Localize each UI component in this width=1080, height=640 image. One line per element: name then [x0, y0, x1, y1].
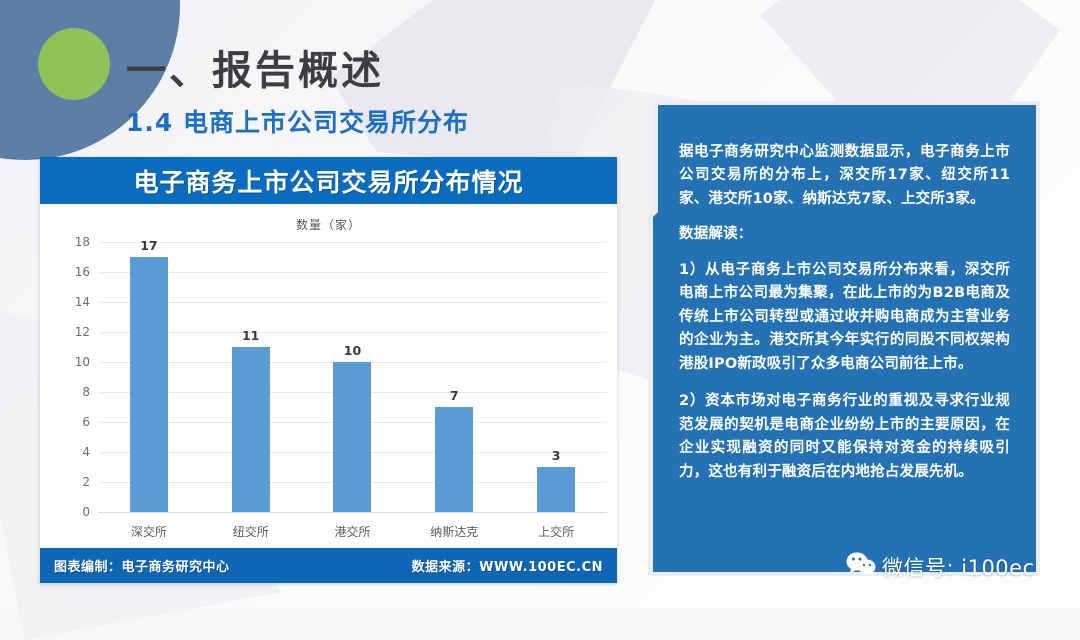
analysis-point-2: 2）资本市场对电子商务行业的重视及寻求行业规范发展的契机是电商企业纷纷上市的主要…: [679, 390, 1010, 484]
chart-plot: 181614121086420 17111073: [98, 242, 607, 512]
x-axis-label: 深交所: [98, 523, 200, 540]
bar-column: 11: [200, 242, 302, 512]
gridline: [98, 512, 607, 513]
chart-credit: 图表编制：电子商务研究中心: [54, 556, 230, 575]
chart-bars: 17111073: [98, 242, 607, 512]
bar-column: 10: [302, 242, 404, 512]
chart-source: 数据来源：WWW.100EC.CN: [412, 556, 603, 575]
wechat-icon: [846, 551, 876, 582]
bar: [232, 347, 270, 512]
y-axis-tick: 2: [82, 475, 90, 489]
bar: [435, 407, 473, 512]
chart-title-bar: 电子商务上市公司交易所分布情况: [40, 157, 617, 204]
y-axis-tick: 16: [75, 265, 90, 279]
bar-value-label: 10: [344, 343, 361, 358]
bar-value-label: 7: [450, 388, 459, 403]
y-axis-tick: 6: [82, 415, 90, 429]
analysis-heading: 数据解读：: [679, 223, 1010, 246]
chart-y-axis-title: 数量（家）: [40, 216, 617, 233]
page-title: 一、报告概述: [126, 38, 384, 96]
x-axis-label: 纽交所: [200, 523, 302, 540]
y-axis-tick: 12: [75, 325, 90, 339]
analysis-point-1: 1）从电子商务上市公司交易所分布来看，深交所电商上市公司最为集聚，在此上市的为B…: [679, 259, 1010, 376]
x-axis-label: 港交所: [302, 523, 404, 540]
bar-column: 3: [505, 242, 607, 512]
chart-card: 电子商务上市公司交易所分布情况 数量（家） 181614121086420 17…: [40, 157, 617, 583]
x-axis-label: 上交所: [505, 523, 607, 540]
wechat-watermark: 微信号: i100ec: [846, 551, 1035, 582]
analysis-intro: 据电子商务研究中心监测数据显示，电子商务上市公司交易所的分布上，深交所17家、纽…: [679, 141, 1010, 211]
y-axis-tick: 14: [75, 295, 90, 309]
bar-value-label: 11: [242, 328, 259, 343]
bar-value-label: 17: [140, 238, 157, 253]
bar-column: 17: [98, 242, 200, 512]
y-axis-tick: 4: [82, 445, 90, 459]
chart-title: 电子商务上市公司交易所分布情况: [133, 163, 523, 199]
chart-footer-bar: 图表编制：电子商务研究中心 数据来源：WWW.100EC.CN: [40, 548, 617, 583]
wechat-id-text: 微信号: i100ec: [882, 552, 1035, 582]
chart-x-axis-labels: 深交所纽交所港交所纳斯达克上交所: [98, 523, 607, 540]
y-axis-tick: 8: [82, 385, 90, 399]
chart-plot-area: 数量（家） 181614121086420 17111073 深交所纽交所港交所…: [40, 204, 617, 548]
y-axis-tick: 18: [75, 235, 90, 249]
analysis-panel: 据电子商务研究中心监测数据显示，电子商务上市公司交易所的分布上，深交所17家、纽…: [653, 105, 1036, 572]
page-subtitle: 1.4 电商上市公司交易所分布: [126, 103, 469, 139]
decor-green-circle: [38, 28, 110, 100]
x-axis-label: 纳斯达克: [403, 523, 505, 540]
bar: [130, 257, 168, 512]
y-axis-tick: 10: [75, 355, 90, 369]
bar-column: 7: [403, 242, 505, 512]
bar: [333, 362, 371, 512]
y-axis-tick: 0: [82, 505, 90, 519]
bar: [537, 467, 575, 512]
bar-value-label: 3: [552, 448, 561, 463]
